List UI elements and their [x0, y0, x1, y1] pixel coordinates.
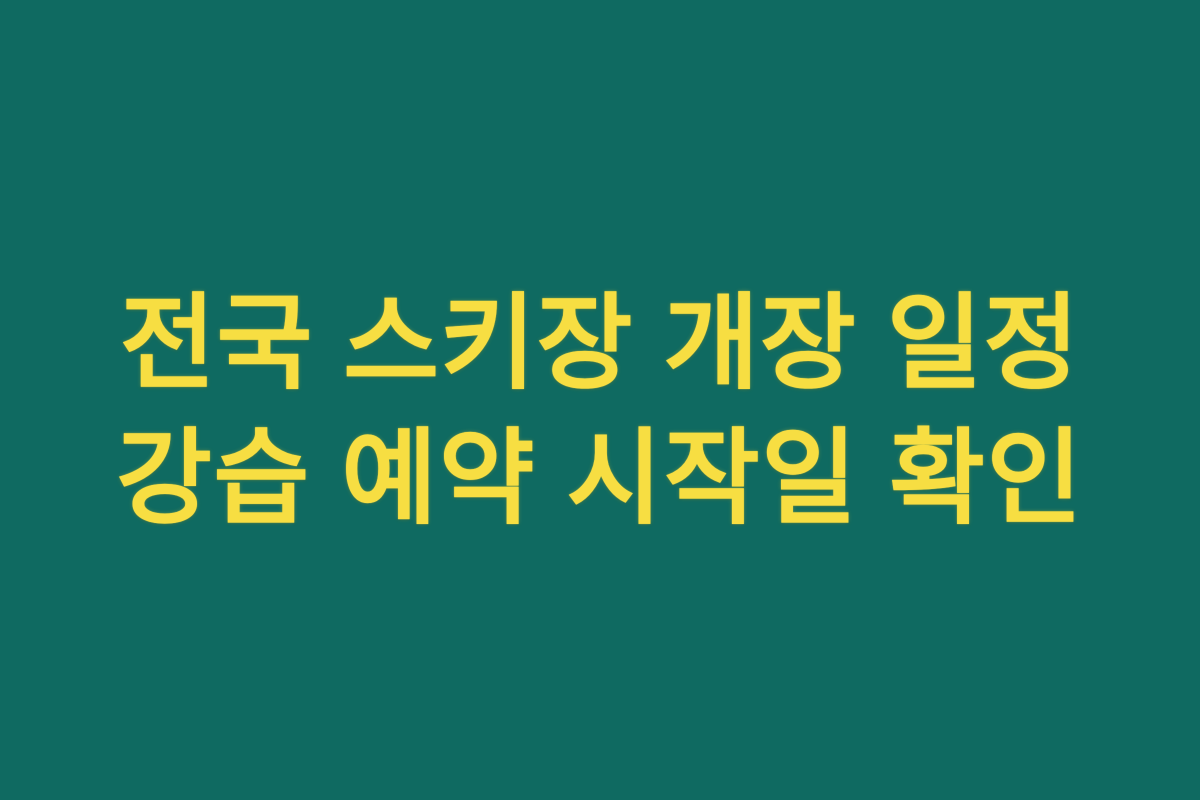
title-line-2: 강습 예약 시작일 확인: [0, 412, 1200, 547]
title-text-block: 전국 스키장 개장 일정 강습 예약 시작일 확인: [0, 277, 1200, 547]
title-card-canvas: 전국 스키장 개장 일정 강습 예약 시작일 확인: [0, 0, 1200, 800]
title-line-1: 전국 스키장 개장 일정: [0, 277, 1200, 412]
